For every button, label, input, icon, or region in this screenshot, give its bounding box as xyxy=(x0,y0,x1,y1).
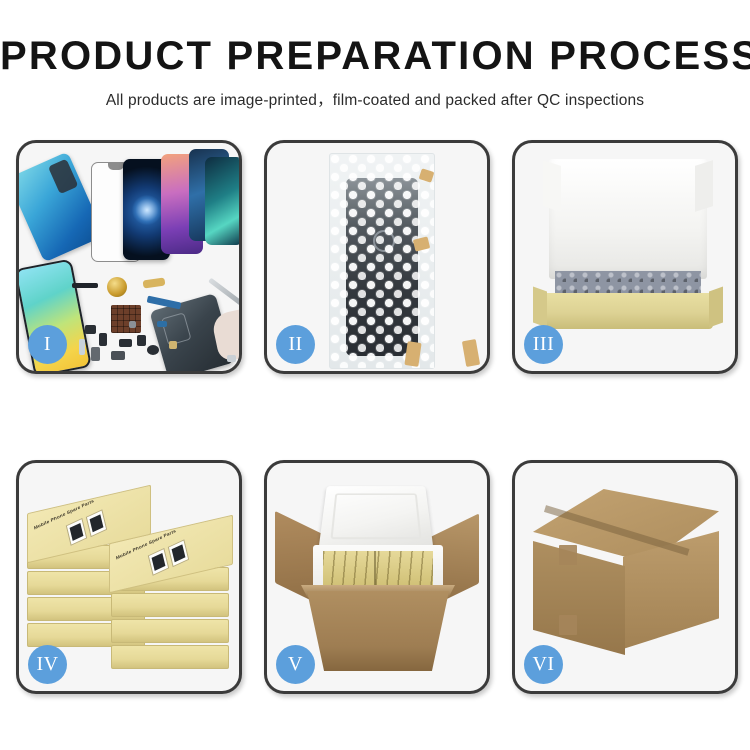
process-step-4[interactable]: Mobile Phone Spare Parts Mobile Phone Sp… xyxy=(16,460,242,694)
small-part-icon xyxy=(147,345,159,355)
small-part-icon xyxy=(99,333,107,346)
stacked-box xyxy=(111,593,229,617)
step-badge-6: VI xyxy=(524,645,563,684)
small-part-icon xyxy=(119,339,132,347)
small-part-icon xyxy=(137,335,146,346)
process-step-5[interactable]: V xyxy=(264,460,490,694)
box-thumbnail-icon xyxy=(168,539,190,567)
styrofoam-lid-icon xyxy=(319,486,434,548)
small-part-icon xyxy=(157,321,167,327)
small-part-icon xyxy=(227,355,236,362)
vibration-motor-icon xyxy=(72,283,98,288)
step-badge-1: I xyxy=(28,325,67,364)
box-thumbnail-icon xyxy=(148,548,170,576)
yellow-inner-box-icon xyxy=(543,293,713,329)
small-part-icon xyxy=(85,325,96,334)
small-part-icon xyxy=(79,339,85,355)
step-badge-4: IV xyxy=(28,645,67,684)
phone-display-teal-icon xyxy=(205,157,242,245)
speaker-coil-icon xyxy=(107,277,127,297)
small-part-icon xyxy=(111,351,125,360)
tape-piece-icon xyxy=(462,339,480,367)
process-step-3[interactable]: III xyxy=(512,140,738,374)
process-step-1[interactable]: I xyxy=(16,140,242,374)
box-thumbnail-icon xyxy=(66,518,88,546)
packed-yellow-boxes-icon xyxy=(323,551,433,589)
page-title: PRODUCT PREPARATION PROCESS xyxy=(0,36,750,76)
bubble-wrap-bag-icon xyxy=(329,153,435,369)
carton-body-icon xyxy=(307,591,449,671)
screw-plate-icon xyxy=(111,305,141,333)
step-badge-2: II xyxy=(276,325,315,364)
product-preparation-infographic: PRODUCT PREPARATION PROCESS All products… xyxy=(0,0,750,750)
bubble-texture-icon xyxy=(330,154,434,368)
process-step-6[interactable]: VI xyxy=(512,460,738,694)
small-part-icon xyxy=(129,321,136,328)
box-thumbnail-icon xyxy=(86,509,108,537)
stacked-box xyxy=(111,619,229,643)
carton-front-face-icon xyxy=(533,541,625,655)
page-subtitle: All products are image-printed，film-coat… xyxy=(0,88,750,110)
header: PRODUCT PREPARATION PROCESS All products… xyxy=(0,0,750,110)
process-step-2[interactable]: II xyxy=(264,140,490,374)
step-badge-3: III xyxy=(524,325,563,364)
small-part-icon xyxy=(91,347,100,361)
white-foam-sheet-icon xyxy=(549,159,707,279)
box-print-label: Mobile Phone Spare Parts xyxy=(33,498,94,530)
step-badge-5: V xyxy=(276,645,315,684)
carton-tape-icon xyxy=(559,545,577,565)
carton-tape-icon xyxy=(559,615,577,635)
process-step-grid: I II III xyxy=(16,140,734,696)
stacked-box xyxy=(111,645,229,669)
small-part-icon xyxy=(169,341,177,349)
gold-connector-icon xyxy=(143,278,166,289)
